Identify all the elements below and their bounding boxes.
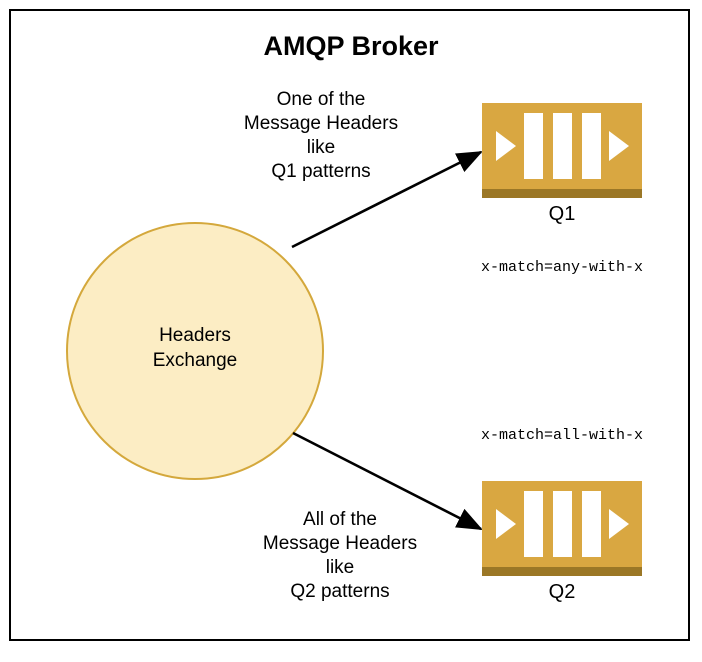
x-match-rule-q2: x-match=all-with-x	[442, 427, 682, 444]
queue-message-bar	[524, 491, 543, 557]
play-triangle-left-icon	[496, 131, 516, 161]
queue-label-q2: Q2	[462, 581, 662, 604]
binding-label-q1: One of the Message Headers like Q1 patte…	[205, 88, 437, 184]
queue-node-q2[interactable]: Q2	[482, 481, 642, 576]
binding-label-q2: All of the Message Headers like Q2 patte…	[224, 508, 456, 604]
play-triangle-right-icon	[609, 509, 629, 539]
queue-base	[482, 189, 642, 198]
queue-message-bar	[524, 113, 543, 179]
queue-label-q1: Q1	[462, 203, 662, 226]
queue-message-bar	[553, 491, 572, 557]
headers-exchange-label: Headers Exchange	[68, 323, 322, 373]
play-triangle-right-icon	[609, 131, 629, 161]
play-triangle-left-icon	[496, 509, 516, 539]
x-match-rule-q1: x-match=any-with-x	[442, 259, 682, 276]
queue-icon	[482, 481, 642, 567]
queue-node-q1[interactable]: Q1	[482, 103, 642, 198]
queue-message-bar	[582, 491, 601, 557]
queue-base	[482, 567, 642, 576]
headers-exchange-node[interactable]: Headers Exchange	[66, 222, 324, 480]
queue-message-bar	[582, 113, 601, 179]
queue-icon	[482, 103, 642, 189]
page-title: AMQP Broker	[0, 31, 702, 62]
diagram-canvas: AMQP Broker One of the Message Headers l…	[0, 0, 702, 662]
queue-message-bar	[553, 113, 572, 179]
